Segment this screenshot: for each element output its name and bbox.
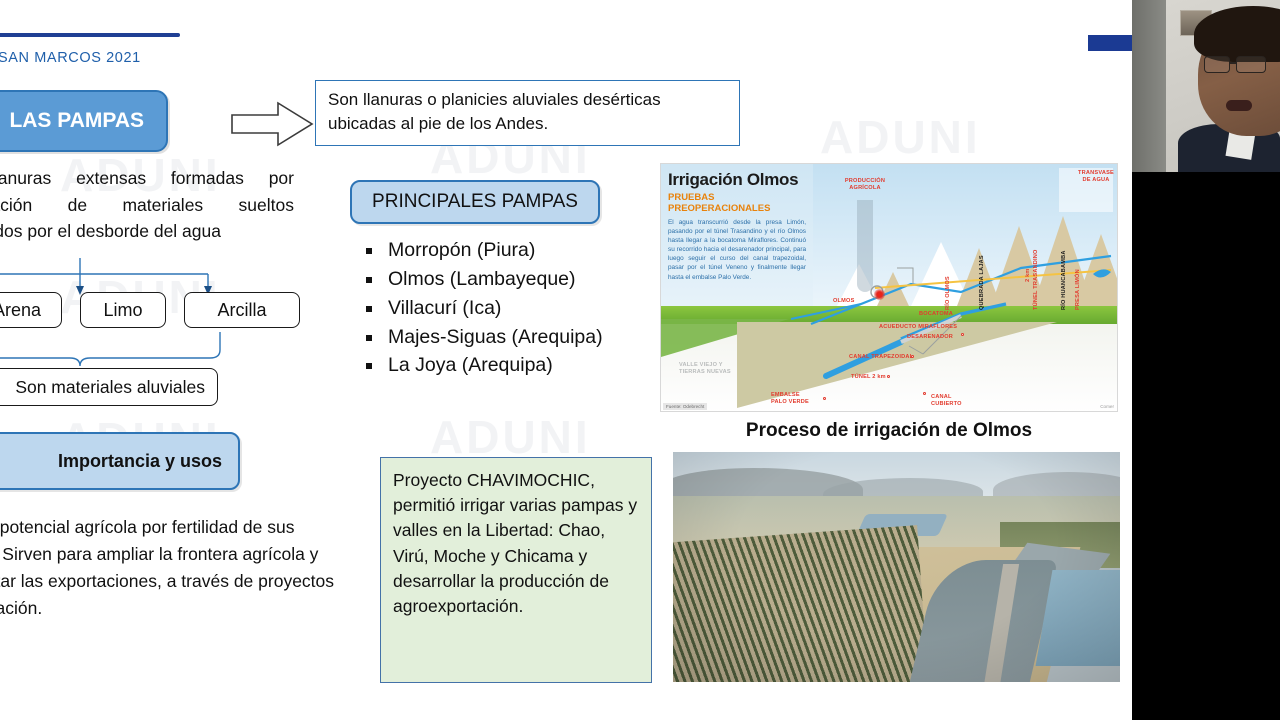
list-item: La Joya (Arequipa)	[358, 351, 668, 380]
header-chip	[1088, 35, 1132, 51]
wall-left	[1132, 0, 1166, 172]
infographic-body-text: El agua transcurrió desde la presa Limón…	[668, 218, 806, 282]
slide-title-pill: LAS PAMPAS	[0, 90, 168, 152]
label-presa-limon: PRESA LIMÓN	[1075, 269, 1081, 310]
list-item: Olmos (Lambayeque)	[358, 265, 668, 294]
importance-paragraph: Tienen potencial agrícola por fertilidad…	[0, 514, 342, 623]
olmos-caption: Proceso de irrigación de Olmos	[660, 420, 1118, 442]
watermark: ADUNI	[430, 410, 591, 464]
infographic-subtitle-line2: PREOPERACIONALES	[668, 204, 770, 215]
presenter-mouth	[1226, 100, 1252, 111]
tree-node-limo: Limo	[80, 292, 166, 328]
label-desarenador: DESARENADOR	[907, 334, 953, 340]
label-quebrada-lajas: QUEBRADA LAJAS	[979, 255, 985, 310]
eyeglasses-bridge	[1230, 62, 1236, 64]
tree-node-arcilla: Arcilla	[184, 292, 300, 328]
left-description-paragraph: Son llanuras extensas formadas por acumu…	[0, 165, 294, 245]
tree-node-arena: Arena	[0, 292, 62, 328]
label-rio-olmos: RÍO OLMOS	[945, 276, 951, 310]
label-2km: 2 km	[1025, 268, 1031, 282]
label-produccion-agricola: PRODUCCIÓN AGRÍCOLA	[837, 178, 893, 192]
screen: ADUNI ADUNI ADUNI ADUNI ADUNI ADUNI SAN …	[0, 0, 1280, 720]
header-rule	[0, 33, 180, 37]
label-canal-cubierto: CANAL CUBIERTO	[931, 394, 971, 408]
label-transvase-de-agua: TRANSVASE DE AGUA	[1075, 170, 1117, 184]
marker-dot	[923, 392, 926, 395]
chavimochic-box: Proyecto CHAVIMOCHIC, permitió irrigar v…	[380, 457, 652, 683]
infographic-corner-credit: Comer	[1100, 404, 1114, 409]
eyeglasses-right-lens	[1236, 56, 1266, 73]
list-item: Majes-Siguas (Arequipa)	[358, 323, 668, 352]
olmos-infographic: Irrigación Olmos PRUEBAS PREOPERACIONALE…	[660, 163, 1118, 412]
webcam-letterbox	[1132, 172, 1280, 720]
label-embalse-palo-verde: EMBALSE PALO VERDE	[771, 392, 815, 406]
label-tunel-2km: TÚNEL 2 km	[851, 374, 886, 380]
marker-dot	[887, 375, 890, 378]
production-shaft	[857, 200, 873, 292]
webcam-video[interactable]	[1132, 0, 1280, 172]
list-item: Villacurí (Ica)	[358, 294, 668, 323]
label-bocatoma: BOCATOMA	[919, 311, 953, 317]
marker-dot	[961, 333, 964, 336]
watermark: ADUNI	[820, 110, 981, 164]
list-item: Morropón (Piura)	[358, 236, 668, 265]
label-valle-viejo: VALLE VIEJO Y TIERRAS NUEVAS	[679, 362, 731, 377]
label-tunel-trasandino: TÚNEL TRASANDINO	[1033, 249, 1039, 310]
principales-pampas-pill: PRINCIPALES PAMPAS	[350, 180, 600, 224]
irrigation-aerial-photo	[673, 452, 1120, 682]
label-canal-trapezoidal: CANAL TRAPEZOIDAL	[849, 354, 913, 360]
red-marker-icon	[874, 289, 885, 300]
label-olmos: OLMOS	[833, 298, 855, 304]
label-rio-huancabamba: RÍO HUANCABAMBA	[1061, 250, 1067, 310]
definition-box: Son llanuras o planicies aluviales desér…	[315, 80, 740, 146]
eyeglasses-left-lens	[1204, 56, 1230, 73]
marker-dot	[911, 355, 914, 358]
importance-pill: Importancia y usos	[0, 432, 240, 490]
infographic-subtitle: PRUEBAS PREOPERACIONALES	[668, 193, 770, 214]
tree-node-aluviales: Son materiales aluviales	[0, 368, 218, 406]
photo-vignette	[673, 452, 1120, 682]
presentation-slide: ADUNI ADUNI ADUNI ADUNI ADUNI ADUNI SAN …	[0, 0, 1132, 720]
label-acueducto-miraflores: ACUEDUCTO MIRAFLORES	[879, 324, 957, 330]
pampas-list: Morropón (Piura) Olmos (Lambayeque) Vill…	[358, 236, 668, 380]
header-subtitle: SAN MARCOS 2021	[0, 50, 141, 66]
infographic-title: Irrigación Olmos	[668, 170, 798, 190]
marker-dot	[823, 397, 826, 400]
infographic-source: Fuente: Odebrecht	[663, 403, 707, 410]
webcam-panel[interactable]	[1132, 0, 1280, 720]
right-arrow-icon	[228, 98, 316, 150]
